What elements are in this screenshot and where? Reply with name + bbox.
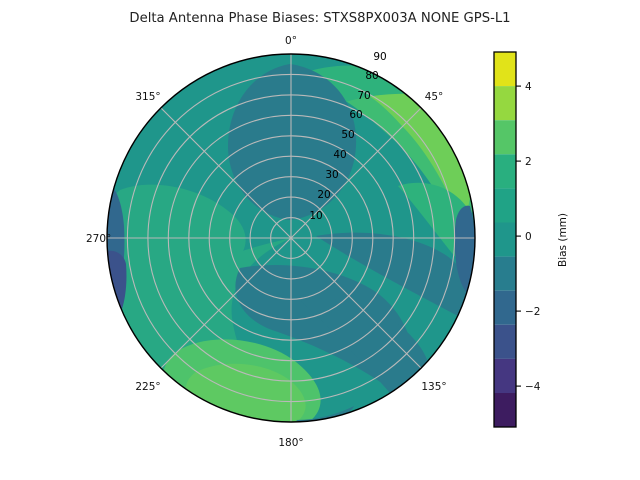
angular-tick-225: 225° (135, 381, 160, 393)
angular-tick-45: 45° (425, 91, 444, 103)
radial-tick-10: 10 (309, 210, 322, 222)
colorbar-swatch-3 (494, 154, 516, 188)
radial-tick-20: 20 (317, 189, 330, 201)
radial-tick-50: 50 (341, 129, 354, 141)
radial-tick-40: 40 (333, 149, 346, 161)
angular-gridlines (107, 54, 475, 422)
colorbar-swatch-5 (494, 223, 516, 257)
colorbar-swatch-8 (494, 325, 516, 359)
colorbar-swatch-7 (494, 291, 516, 325)
colorbar-tick-label-2: 2 (525, 156, 532, 168)
angular-tick-180: 180° (278, 437, 303, 449)
angular-tick-315: 315° (135, 91, 160, 103)
radial-tick-60: 60 (349, 109, 362, 121)
radial-tick-80: 80 (365, 70, 378, 82)
colorbar-swatch-1 (494, 86, 516, 120)
colorbar-swatches (494, 52, 516, 427)
colorbar-swatch-4 (494, 188, 516, 222)
radial-tick-90: 90 (373, 51, 386, 63)
angular-tick-135: 135° (421, 381, 446, 393)
colorbar-tick-label-neg2: −2 (525, 306, 540, 318)
polar-skyplot-figure: Delta Antenna Phase Biases: STXS8PX003A … (0, 0, 640, 480)
colorbar-swatch-0 (494, 52, 516, 86)
angular-tick-270: 270° (86, 233, 111, 245)
angular-tick-0: 0° (285, 35, 297, 47)
colorbar-tick-label-0: 0 (525, 231, 532, 243)
colorbar-swatch-10 (494, 393, 516, 427)
colorbar-axis-title: Bias (mm) (557, 213, 569, 267)
colorbar-swatch-6 (494, 257, 516, 291)
colorbar-swatch-2 (494, 120, 516, 154)
colorbar-swatch-9 (494, 359, 516, 393)
radial-tick-70: 70 (357, 90, 370, 102)
colorbar-tick-label-4: 4 (525, 81, 532, 93)
page-title: Delta Antenna Phase Biases: STXS8PX003A … (129, 11, 510, 26)
colorbar-tick-label-neg4: −4 (525, 381, 541, 393)
radial-tick-30: 30 (325, 169, 338, 181)
